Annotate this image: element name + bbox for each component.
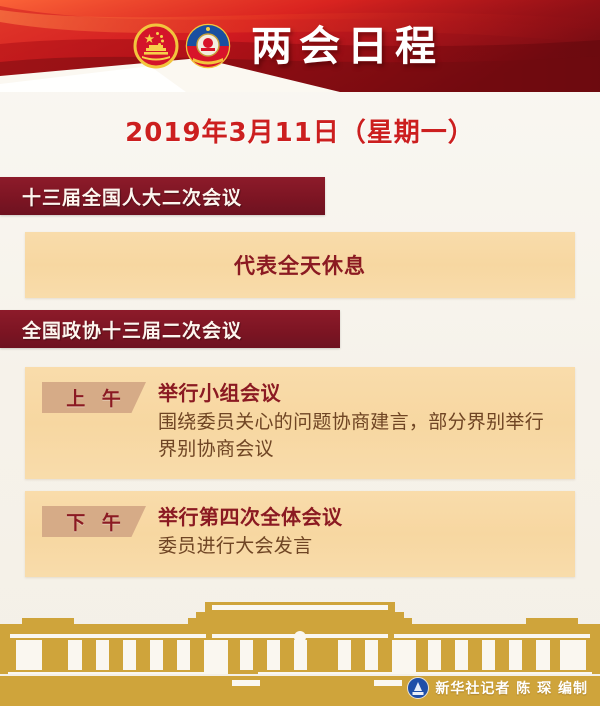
session-afternoon-body: 举行第四次全体会议 委员进行大会发言: [158, 504, 361, 560]
page-title: 两会日程: [251, 26, 443, 67]
session-morning: 上 午 举行小组会议 围绕委员关心的问题协商建言，部分界别举行界别协商会议: [25, 367, 575, 476]
session-morning-tag: 上 午: [42, 382, 146, 413]
session-afternoon-tag: 下 午: [42, 506, 146, 537]
section-bar-cppcc: 全国政协十三届二次会议: [0, 310, 340, 348]
national-emblem-china-icon: [133, 23, 179, 69]
credit-block: 新华社记者 陈 琛 编制: [407, 677, 588, 699]
header-title-row: 两会日程: [0, 0, 600, 92]
npc-entry-text: 代表全天休息: [234, 250, 366, 280]
section-bar-cppcc-label: 全国政协十三届二次会议: [22, 316, 242, 343]
panel-cppcc-afternoon: 下 午 举行第四次全体会议 委员进行大会发言: [25, 491, 575, 577]
session-afternoon-desc: 委员进行大会发言: [158, 533, 343, 560]
panel-npc: 代表全天休息: [25, 232, 575, 298]
session-afternoon: 下 午 举行第四次全体会议 委员进行大会发言: [25, 491, 575, 573]
credit-text: 新华社记者 陈 琛 编制: [435, 678, 588, 698]
session-morning-body: 举行小组会议 围绕委员关心的问题协商建言，部分界别举行界别协商会议: [158, 380, 575, 463]
session-morning-desc: 围绕委员关心的问题协商建言，部分界别举行界别协商会议: [158, 409, 557, 463]
panel-cppcc-morning: 上 午 举行小组会议 围绕委员关心的问题协商建言，部分界别举行界别协商会议: [25, 367, 575, 479]
footer: 新华社记者 陈 琛 编制: [0, 588, 600, 706]
section-bar-npc-label: 十三届全国人大二次会议: [22, 183, 242, 210]
section-bar-npc: 十三届全国人大二次会议: [0, 177, 325, 215]
session-morning-title: 举行小组会议: [158, 380, 557, 407]
poster-root: 两会日程 2019年3月11日（星期一） 十三届全国人大二次会议 代表全天休息 …: [0, 0, 600, 706]
date-line: 2019年3月11日（星期一）: [0, 112, 600, 149]
session-afternoon-title: 举行第四次全体会议: [158, 504, 343, 531]
header-banner: 两会日程: [0, 0, 600, 92]
cppcc-emblem-icon: [185, 23, 231, 69]
xinhua-logo-icon: [407, 677, 429, 699]
